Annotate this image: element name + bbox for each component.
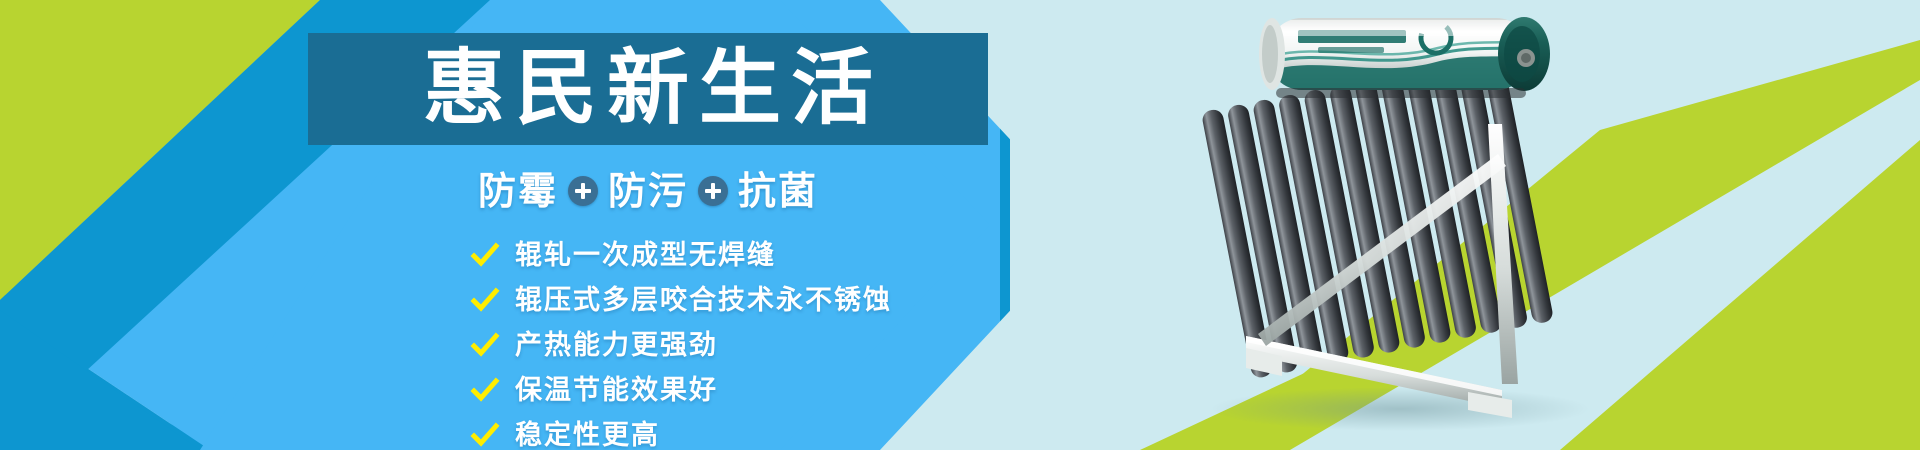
list-item: 辊压式多层咬合技术永不锈蚀: [470, 281, 892, 319]
product-shadow: [1210, 387, 1590, 431]
list-item: 辊轧一次成型无焊缝: [470, 236, 892, 274]
feature-label: 辊轧一次成型无焊缝: [515, 242, 776, 269]
feature-label: 产热能力更强劲: [515, 332, 718, 359]
page-title: 惠民新生活: [413, 48, 883, 130]
promo-banner: 惠民新生活 防霉 防污 抗菌 辊轧一次成型无焊缝 辊压式多层咬合技术永不锈蚀 产…: [0, 0, 1920, 450]
tube-collar: [1276, 88, 1526, 98]
feature-label: 稳定性更高: [515, 422, 660, 449]
title-banner-box: 惠民新生活: [308, 33, 988, 145]
check-mark-icon: [470, 285, 500, 315]
subtitle-row: 防霉 防污 抗菌: [308, 168, 988, 214]
feature-label: 保温节能效果好: [515, 377, 718, 404]
subtitle-word-2: 防污: [608, 172, 688, 210]
list-item: 产热能力更强劲: [470, 326, 892, 364]
feature-list: 辊轧一次成型无焊缝 辊压式多层咬合技术永不锈蚀 产热能力更强劲 保温节能效果好: [470, 236, 892, 450]
product-image-solar-water-heater: [1150, 4, 1650, 434]
list-item: 保温节能效果好: [470, 371, 892, 409]
subtitle-word-1: 防霉: [478, 172, 558, 210]
plus-circle-icon: [568, 176, 598, 206]
check-mark-icon: [470, 330, 500, 360]
check-mark-icon: [470, 240, 500, 270]
plus-circle-icon: [698, 176, 728, 206]
check-mark-icon: [470, 420, 500, 450]
check-mark-icon: [470, 375, 500, 405]
water-tank: [1259, 17, 1550, 94]
list-item: 稳定性更高: [470, 416, 892, 450]
feature-label: 辊压式多层咬合技术永不锈蚀: [515, 287, 892, 314]
subtitle-word-3: 抗菌: [738, 172, 818, 210]
